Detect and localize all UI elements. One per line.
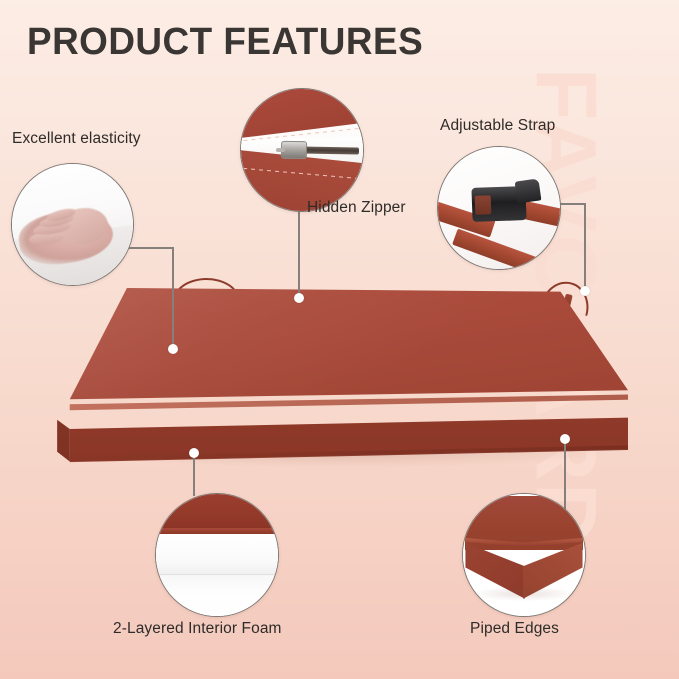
feature-label-adjustable-strap: Adjustable Strap xyxy=(440,117,555,135)
feature-image-hidden-zipper xyxy=(240,88,364,212)
connector-elasticity-vertical xyxy=(172,247,174,348)
zipper-teeth xyxy=(299,146,358,154)
foam-layer-1 xyxy=(155,534,279,575)
piped-shadow xyxy=(473,589,575,601)
connector-zipper-vertical xyxy=(298,210,300,297)
marker-dot-foam xyxy=(189,448,199,458)
feature-image-2-layered-interior-foam xyxy=(155,493,279,617)
buckle-release-tab xyxy=(515,178,542,203)
feature-image-piped-edges xyxy=(462,493,586,617)
marker-dot-elasticity xyxy=(168,344,178,354)
feature-label-piped-edges: Piped Edges xyxy=(470,620,559,638)
foam-layer-seam xyxy=(155,574,279,575)
marker-dot-zipper xyxy=(294,293,304,303)
marker-dot-strap xyxy=(580,286,590,296)
page-title: PRODUCT FEATURES xyxy=(27,19,423,65)
infographic-canvas: FAVOYARD PRODUCT FEATURES Excellent elas… xyxy=(0,0,679,679)
marker-dot-piped xyxy=(560,434,570,444)
connector-elasticity-horizontal xyxy=(128,247,174,249)
product-cushion-image xyxy=(56,288,628,466)
connector-strap-vertical xyxy=(584,203,586,290)
feature-label-excellent-elasticity: Excellent elasticity xyxy=(12,130,141,148)
feature-image-adjustable-strap xyxy=(437,146,561,270)
foam-layer-2 xyxy=(155,575,279,617)
connector-foam-vertical xyxy=(193,452,195,496)
zipper-pull xyxy=(276,148,285,153)
feature-image-excellent-elasticity xyxy=(11,163,134,286)
feature-label-2-layered-interior-foam: 2-Layered Interior Foam xyxy=(113,620,282,638)
foam-fabric-layer xyxy=(155,493,279,528)
feature-label-hidden-zipper: Hidden Zipper xyxy=(307,199,406,217)
zipper-slider xyxy=(281,141,308,159)
